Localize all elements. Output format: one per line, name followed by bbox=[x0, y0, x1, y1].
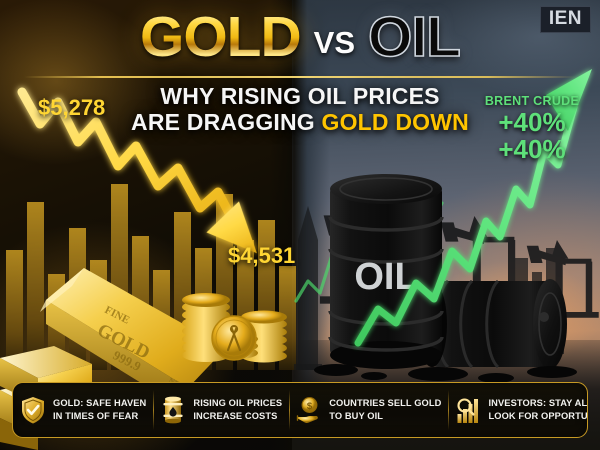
footer-line-1: GOLD: SAFE HAVEN bbox=[53, 397, 146, 410]
footer-text-stay-alert: INVESTORS: STAY ALERT, LOOK FOR OPPORTUN… bbox=[488, 397, 588, 424]
svg-text:$: $ bbox=[307, 401, 313, 412]
footer-text-rising-costs: RISING OIL PRICES INCREASE COSTS bbox=[193, 397, 282, 424]
face-coin bbox=[212, 316, 256, 360]
subtitle-line-2-prefix: ARE DRAGGING bbox=[131, 109, 321, 135]
title-oil-word: OIL bbox=[368, 9, 460, 66]
footer-line-1: COUNTRIES SELL GOLD bbox=[329, 397, 441, 410]
footer-line-2: IN TIMES OF FEAR bbox=[53, 410, 146, 423]
oil-barrel-icon bbox=[160, 395, 186, 425]
brent-crude-block: BRENT CRUDE +40% +40% bbox=[480, 95, 584, 162]
footer-item-stay-alert[interactable]: INVESTORS: STAY ALERT, LOOK FOR OPPORTUN… bbox=[448, 383, 588, 437]
brent-change-2: +40% bbox=[480, 136, 584, 162]
title-divider bbox=[24, 76, 576, 78]
gold-price-low-label: $4,531 bbox=[228, 243, 295, 269]
footer-line-2: LOOK FOR OPPORTUNITIES bbox=[488, 410, 588, 423]
title-gold-word: GOLD bbox=[140, 9, 301, 66]
brent-crude-label: BRENT CRUDE bbox=[480, 95, 584, 108]
footer-text-safe-haven: GOLD: SAFE HAVEN IN TIMES OF FEAR bbox=[53, 397, 146, 424]
subtitle-line-1: WHY RISING OIL PRICES bbox=[115, 83, 485, 109]
footer-line-1: RISING OIL PRICES bbox=[193, 397, 282, 410]
hand-coin-icon: $ bbox=[296, 395, 322, 425]
subtitle-line-2: ARE DRAGGING GOLD DOWN bbox=[115, 109, 485, 135]
footer-item-rising-costs[interactable]: RISING OIL PRICES INCREASE COSTS bbox=[153, 383, 289, 437]
footer-bar: GOLD: SAFE HAVEN IN TIMES OF FEAR RISING… bbox=[12, 382, 588, 438]
gold-coins-illustration bbox=[178, 255, 293, 365]
title-vs-word: VS bbox=[314, 27, 355, 58]
subtitle-highlight: GOLD DOWN bbox=[322, 109, 469, 135]
main-title: GOLD VS OIL bbox=[0, 3, 600, 71]
footer-item-safe-haven[interactable]: GOLD: SAFE HAVEN IN TIMES OF FEAR bbox=[13, 383, 153, 437]
gold-price-high-label: $5,278 bbox=[38, 95, 105, 121]
footer-text-sell-gold: COUNTRIES SELL GOLD TO BUY OIL bbox=[329, 397, 441, 424]
infographic-poster: FINE GOLD 999.9 NET WT 1000g bbox=[0, 0, 600, 450]
ien-logo: IEN bbox=[540, 6, 591, 33]
footer-item-sell-gold[interactable]: $ COUNTRIES SELL GOLD TO BUY OIL bbox=[289, 383, 448, 437]
brent-change-1: +40% bbox=[480, 109, 584, 135]
footer-line-2: TO BUY OIL bbox=[329, 410, 441, 423]
subtitle-block: WHY RISING OIL PRICES ARE DRAGGING GOLD … bbox=[115, 83, 485, 135]
footer-line-2: INCREASE COSTS bbox=[193, 410, 282, 423]
shield-check-icon bbox=[20, 395, 46, 425]
footer-line-1: INVESTORS: STAY ALERT, bbox=[488, 397, 588, 410]
chart-magnifier-icon bbox=[455, 395, 481, 425]
